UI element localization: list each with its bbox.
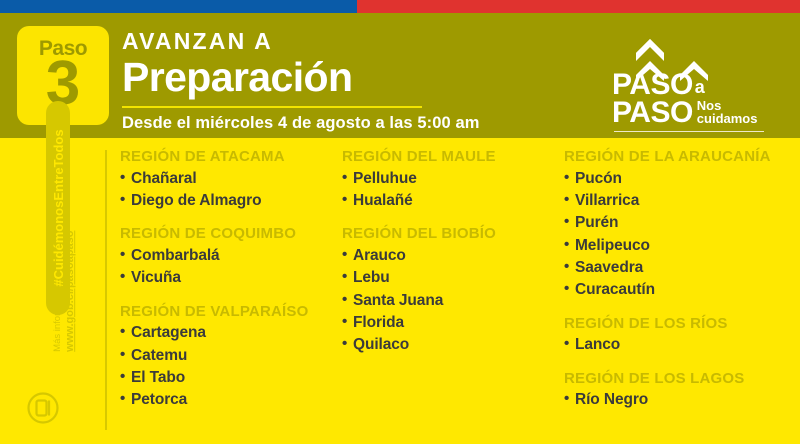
hashtag-text: #CuidémonosEntreTodos [51,129,66,286]
logo-line-1: PASO a [612,71,787,99]
city-item: Florida [342,312,564,334]
region-group: REGIÓN DE LA ARAUCANÍA Pucón Villarrica … [564,148,800,302]
region-heading: REGIÓN DE LOS LAGOS [564,370,800,388]
city-item: El Tabo [120,367,342,389]
logo-wordmark: PASO a PASO Nos cuidamos [612,71,787,132]
city-item: Villarrica [564,190,800,212]
effective-date-text: Desde el miércoles 4 de agosto a las 5:0… [122,114,542,133]
flag-stripe [0,0,800,13]
city-item: Purén [564,212,800,234]
stripe-blue-segment [0,0,357,13]
page-title: Preparación [122,56,542,99]
logo-a: a [693,78,705,99]
regions-columns: REGIÓN DE ATACAMA Chañaral Diego de Alma… [120,148,800,440]
city-item: Cartagena [120,322,342,344]
logo-paso-2: PASO [612,99,693,127]
city-item: Chañaral [120,168,342,190]
side-rail: Más información en: www.gob.cl/pasoapaso… [18,148,100,438]
region-group: REGIÓN DE ATACAMA Chañaral Diego de Alma… [120,148,342,212]
region-group: REGIÓN DEL MAULE Pelluhue Hualañé [342,148,564,212]
region-heading: REGIÓN DE COQUIMBO [120,225,342,243]
region-heading: REGIÓN DEL MAULE [342,148,564,166]
region-column-2: REGIÓN DEL MAULE Pelluhue Hualañé REGIÓN… [342,148,564,440]
city-item: Quilaco [342,334,564,356]
logo-tagline: Nos cuidamos [693,99,758,127]
city-item: Lanco [564,334,800,356]
document-circle-icon [26,391,60,425]
city-item: Vicuña [120,267,342,289]
logo-underline [614,131,764,133]
document-circle-icon-svg [26,391,60,425]
city-item: Petorca [120,389,342,411]
header-divider-rule [122,106,422,108]
city-item: Lebu [342,267,564,289]
header-eyebrow: AVANZAN A [122,29,542,54]
stripe-red-segment [357,0,800,13]
content-left-divider [105,150,107,430]
city-item: Pelluhue [342,168,564,190]
logo-tagline-line2: cuidamos [697,112,758,125]
region-heading: REGIÓN DEL BIOBÍO [342,225,564,243]
city-item: Combarbalá [120,245,342,267]
region-heading: REGIÓN DE VALPARAÍSO [120,303,342,321]
logo-paso-1: PASO [612,71,693,99]
city-item: Curacautín [564,279,800,301]
hashtag-badge: #CuidémonosEntreTodos [46,101,70,315]
region-group: REGIÓN DEL BIOBÍO Arauco Lebu Santa Juan… [342,225,564,356]
region-group: REGIÓN DE LOS RÍOS Lanco [564,315,800,357]
region-group: REGIÓN DE VALPARAÍSO Cartagena Catemu El… [120,303,342,412]
city-item: Melipeuco [564,235,800,257]
city-item: Hualañé [342,190,564,212]
logo-tagline-line1: Nos [697,99,758,112]
city-item: Saavedra [564,257,800,279]
header-banner: Paso 3 AVANZAN A Preparación Desde el mi… [0,13,800,138]
region-group: REGIÓN DE LOS LAGOS Río Negro [564,370,800,412]
city-item: Río Negro [564,389,800,411]
region-heading: REGIÓN DE LOS RÍOS [564,315,800,333]
header-text-block: AVANZAN A Preparación Desde el miércoles… [122,29,542,133]
city-item: Pucón [564,168,800,190]
paso-a-paso-logo: PASO a PASO Nos cuidamos [602,35,782,130]
city-item: Catemu [120,345,342,367]
city-item: Diego de Almagro [120,190,342,212]
region-group: REGIÓN DE COQUIMBO Combarbalá Vicuña [120,225,342,289]
region-heading: REGIÓN DE ATACAMA [120,148,342,166]
logo-line-2: PASO Nos cuidamos [612,99,787,127]
city-item: Arauco [342,245,564,267]
region-column-1: REGIÓN DE ATACAMA Chañaral Diego de Alma… [120,148,342,440]
city-item: Santa Juana [342,290,564,312]
region-heading: REGIÓN DE LA ARAUCANÍA [564,148,800,166]
region-column-3: REGIÓN DE LA ARAUCANÍA Pucón Villarrica … [564,148,800,440]
